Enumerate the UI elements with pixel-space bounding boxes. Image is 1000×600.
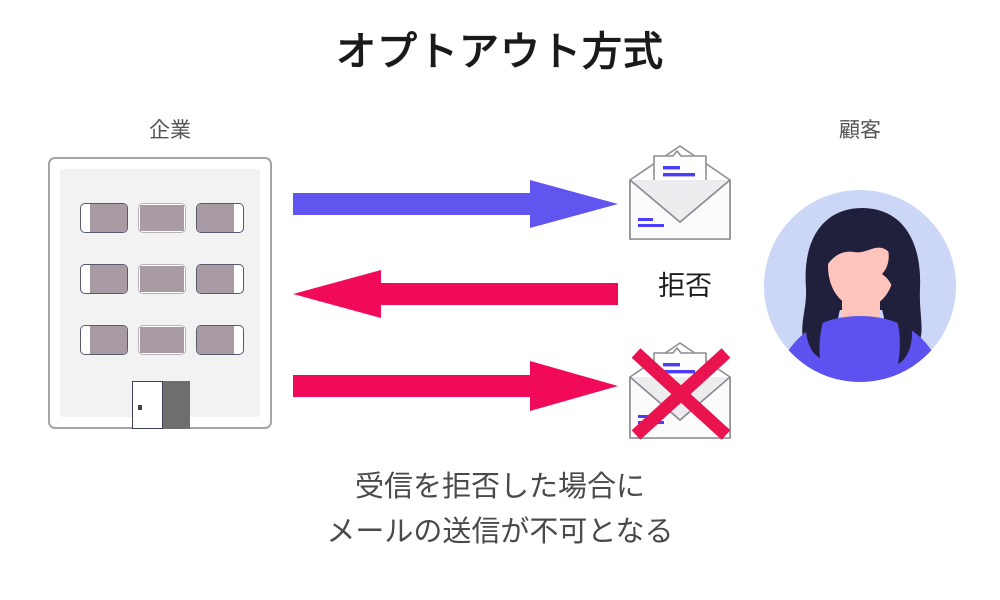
building-window (138, 264, 186, 294)
building-panel (60, 169, 260, 417)
building-door-icon (132, 381, 190, 429)
envelope-delivered-icon (624, 140, 736, 245)
blocked-mail-arrow-icon (293, 360, 618, 412)
caption-line-2: メールの送信が不可となる (0, 510, 1000, 555)
building-window (196, 203, 244, 233)
building-window (138, 203, 186, 233)
window-row (80, 264, 244, 294)
building-window (80, 325, 128, 355)
page-title: オプトアウト方式 (0, 30, 1000, 74)
diagram-canvas: オプトアウト方式 企業 顧客 (0, 0, 1000, 600)
building-window (196, 325, 244, 355)
building-window (138, 325, 186, 355)
refuse-arrow-icon (293, 270, 618, 318)
window-row (80, 325, 244, 355)
door-light-panel (132, 381, 163, 429)
caption: 受信を拒否した場合に メールの送信が不可となる (0, 465, 1000, 555)
envelope-blocked-icon (620, 335, 740, 445)
building-icon (48, 157, 272, 429)
customer-avatar-icon (762, 188, 958, 384)
company-label: 企業 (60, 118, 280, 143)
door-knob (138, 405, 142, 410)
refuse-label: 拒否 (630, 270, 740, 302)
building-window (80, 264, 128, 294)
door-dark-panel (162, 381, 190, 429)
customer-label: 顧客 (750, 118, 970, 143)
send-mail-arrow-icon (293, 180, 618, 228)
building-window (80, 203, 128, 233)
caption-line-1: 受信を拒否した場合に (0, 465, 1000, 510)
window-row (80, 203, 244, 233)
building-window (196, 264, 244, 294)
